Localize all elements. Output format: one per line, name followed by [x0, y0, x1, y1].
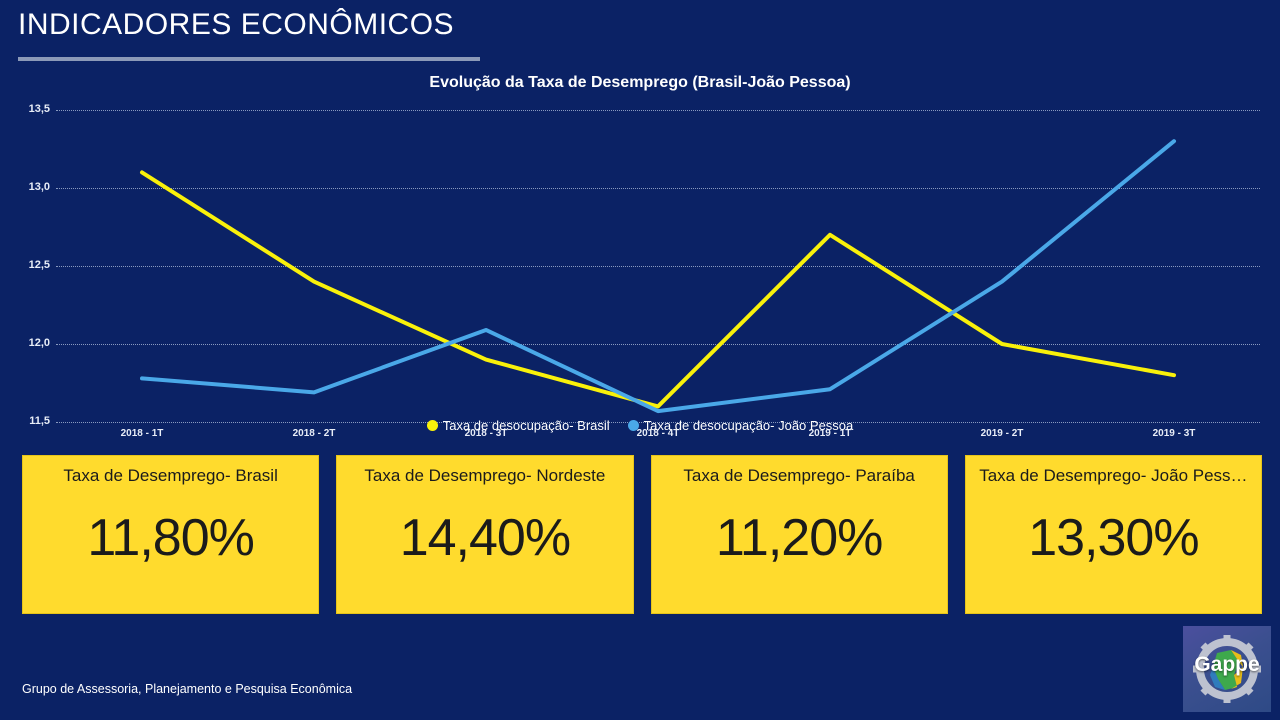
y-axis-tick-label: 13,0 — [12, 181, 50, 193]
legend-color-dot-icon — [427, 420, 438, 431]
kpi-card-value: 14,40% — [337, 508, 632, 568]
chart-legend: Taxa de desocupação- BrasilTaxa de desoc… — [0, 418, 1280, 433]
logo-text: Gappe — [1183, 653, 1271, 677]
kpi-card-value: 11,80% — [23, 508, 318, 568]
legend-color-dot-icon — [628, 420, 639, 431]
kpi-card[interactable]: Taxa de Desemprego- Nordeste14,40% — [336, 455, 633, 614]
chart-title: Evolução da Taxa de Desemprego (Brasil-J… — [0, 74, 1280, 92]
y-axis-tick-label: 12,0 — [12, 337, 50, 349]
y-axis-tick-label: 13,5 — [12, 103, 50, 115]
kpi-card-row: Taxa de Desemprego- Brasil11,80%Taxa de … — [22, 455, 1262, 614]
kpi-card-title: Taxa de Desemprego- Nordeste — [364, 466, 605, 486]
kpi-card-title: Taxa de Desemprego- João Pess… — [979, 466, 1247, 486]
unemployment-line-chart: Evolução da Taxa de Desemprego (Brasil-J… — [0, 70, 1280, 445]
chart-plot-area: 13,513,012,512,011,5 2018 - 1T2018 - 2T2… — [56, 110, 1260, 422]
page-title: INDICADORES ECONÔMICOS — [18, 8, 454, 42]
y-axis-tick-label: 12,5 — [12, 259, 50, 271]
legend-label: Taxa de desocupação- Brasil — [443, 418, 610, 433]
legend-label: Taxa de desocupação- João Pessoa — [644, 418, 854, 433]
kpi-card[interactable]: Taxa de Desemprego- Brasil11,80% — [22, 455, 319, 614]
kpi-card[interactable]: Taxa de Desemprego- João Pess…13,30% — [965, 455, 1262, 614]
kpi-card-value: 11,20% — [652, 508, 947, 568]
chart-series-layer — [56, 110, 1260, 422]
kpi-card-title: Taxa de Desemprego- Paraíba — [683, 466, 915, 486]
legend-item[interactable]: Taxa de desocupação- Brasil — [427, 418, 610, 433]
gappe-logo: Gappe — [1183, 626, 1271, 712]
footer-note: Grupo de Assessoria, Planejamento e Pesq… — [22, 682, 352, 696]
title-divider — [18, 57, 480, 61]
chart-series-line — [142, 141, 1174, 411]
kpi-card[interactable]: Taxa de Desemprego- Paraíba11,20% — [651, 455, 948, 614]
chart-series-line — [142, 172, 1174, 406]
legend-item[interactable]: Taxa de desocupação- João Pessoa — [628, 418, 854, 433]
kpi-card-title: Taxa de Desemprego- Brasil — [63, 466, 277, 486]
kpi-card-value: 13,30% — [966, 508, 1261, 568]
